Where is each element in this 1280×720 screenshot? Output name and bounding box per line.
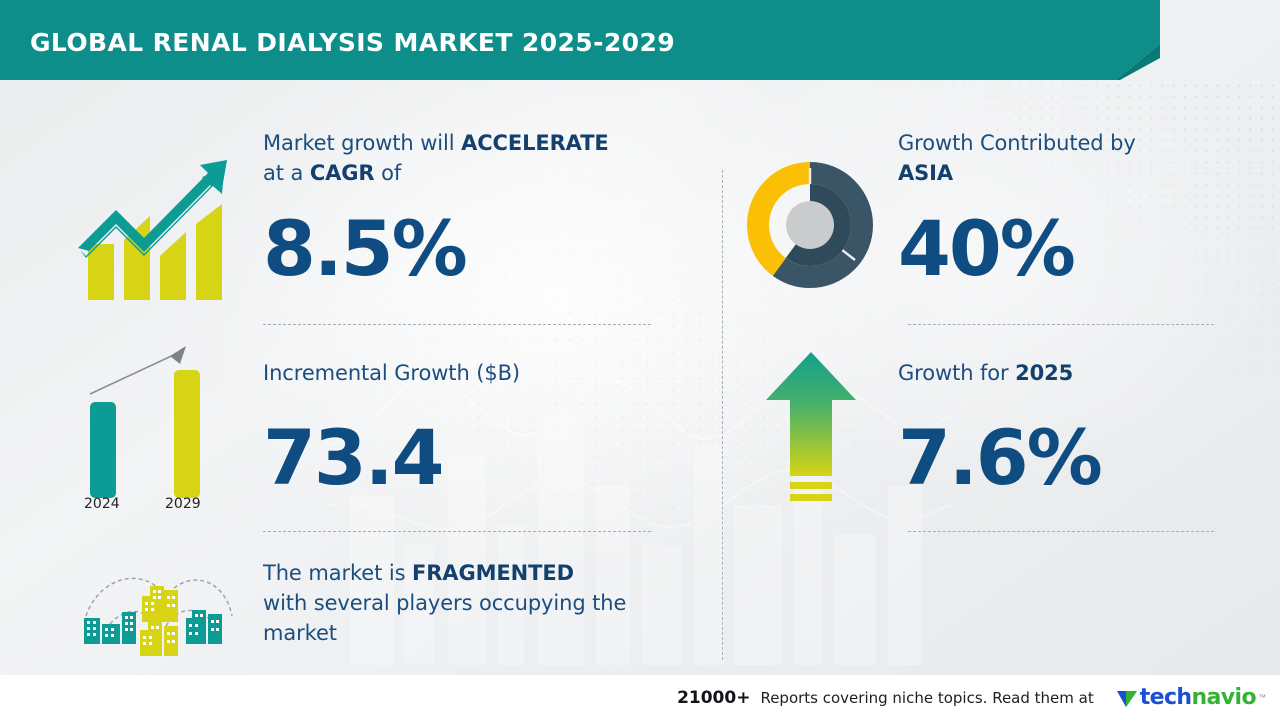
footer-report-count: 21000+ [677, 688, 750, 708]
donut-chart-icon [745, 160, 875, 290]
logo-tech-part: tech [1140, 685, 1192, 710]
footer: 21000+ Reports covering niche topics. Re… [0, 675, 1280, 720]
cagr-caption-accelerate: ACCELERATE [461, 131, 609, 155]
yearly-value: 7.6% [898, 420, 1101, 496]
region-value: 40% [898, 211, 1074, 287]
up-arrow-icon [764, 348, 858, 510]
cagr-caption: Market growth will ACCELERATE at a CAGR … [263, 128, 663, 188]
page-title: GLOBAL RENAL DIALYSIS MARKET 2025-2029 [30, 28, 675, 57]
region-caption: Growth Contributed by ASIA [898, 128, 1198, 188]
cagr-caption-cagr: CAGR [310, 161, 375, 185]
growth-arrow-bars-icon [72, 148, 232, 300]
header: GLOBAL RENAL DIALYSIS MARKET 2025-2029 [0, 0, 1280, 80]
logo-trademark: ™ [1258, 693, 1266, 702]
technavio-mark-icon [1116, 687, 1138, 709]
incremental-growth-value: 73.4 [263, 420, 443, 496]
logo-navio-part: navio [1191, 685, 1256, 710]
cagr-caption-pre: Market growth will [263, 131, 461, 155]
city-network-icon [74, 560, 244, 660]
bar-label-2029: 2029 [165, 496, 201, 512]
bar-label-2024: 2024 [84, 496, 120, 512]
fragmentation-line3: market [263, 621, 337, 645]
fragmentation-caption: The market is FRAGMENTED with several pl… [263, 558, 683, 648]
infographic-canvas: GLOBAL RENAL DIALYSIS MARKET 2025-2029 M… [0, 0, 1280, 720]
technavio-wordmark: technavio [1140, 685, 1256, 710]
divider-right-2 [908, 531, 1214, 532]
yearly-caption: Growth for 2025 [898, 358, 1198, 388]
divider-right-1 [908, 324, 1214, 325]
incremental-growth-label: Incremental Growth ($B) [263, 358, 520, 388]
cagr-caption-line2-pre: at a [263, 161, 310, 185]
divider-left-2 [263, 531, 651, 532]
yearly-caption-pre: Growth for [898, 361, 1015, 385]
fragmentation-line2: with several players occupying the [263, 591, 626, 615]
technavio-logo[interactable]: technavio ™ [1116, 685, 1266, 710]
region-caption-line1: Growth Contributed by [898, 131, 1136, 155]
cagr-value: 8.5% [263, 211, 466, 287]
two-bar-comparison-icon [62, 334, 238, 520]
fragmentation-bold: FRAGMENTED [412, 561, 574, 585]
footer-tagline: Reports covering niche topics. Read them… [760, 689, 1093, 707]
divider-vertical [722, 170, 723, 660]
fragmentation-pre: The market is [263, 561, 412, 585]
region-caption-asia: ASIA [898, 161, 953, 185]
footer-content: 21000+ Reports covering niche topics. Re… [677, 675, 1266, 720]
divider-left-1 [263, 324, 651, 325]
cagr-caption-line2-post: of [375, 161, 402, 185]
yearly-caption-year: 2025 [1015, 361, 1073, 385]
